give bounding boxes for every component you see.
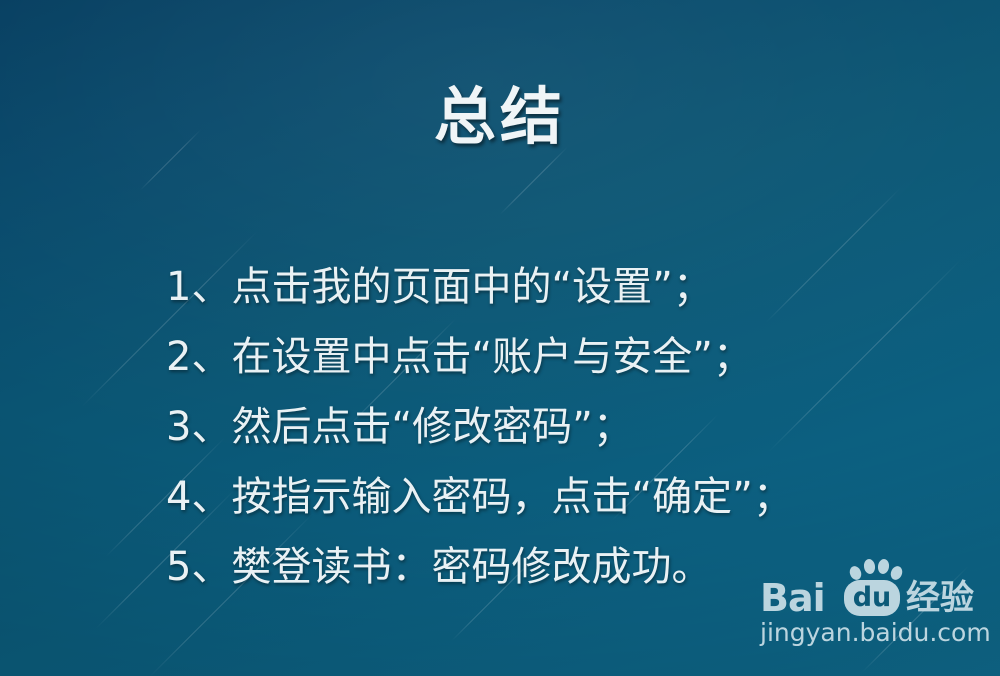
baidu-wordmark-bai: Bai: [760, 578, 825, 618]
watermark-logo-row: Bai du 经验: [758, 556, 996, 622]
baidu-wordmark-du: du: [844, 580, 900, 616]
baidu-jingyan-watermark: Bai du 经验 jingyan.baidu.com: [758, 556, 996, 660]
list-item: 2、在设置中点击“账户与安全”；: [166, 322, 793, 392]
streak-line: [500, 146, 569, 215]
paw-toe-icon: [877, 558, 890, 574]
slide-step-list: 1、点击我的页面中的“设置”； 2、在设置中点击“账户与安全”； 3、然后点击“…: [166, 252, 793, 602]
paw-toe-icon: [889, 564, 904, 581]
list-item: 4、按指示输入密码，点击“确定”；: [166, 462, 793, 532]
jingyan-label-cn: 经验: [906, 578, 974, 618]
list-item: 1、点击我的页面中的“设置”；: [166, 252, 793, 322]
presentation-slide: 总结 1、点击我的页面中的“设置”； 2、在设置中点击“账户与安全”； 3、然后…: [0, 0, 1000, 676]
list-item: 3、然后点击“修改密码”；: [166, 392, 793, 462]
slide-title: 总结: [0, 86, 1000, 148]
watermark-url: jingyan.baidu.com: [760, 618, 991, 648]
paw-toe-icon: [848, 564, 863, 581]
paw-toe-icon: [863, 558, 876, 574]
list-item: 5、樊登读书：密码修改成功。: [166, 532, 793, 602]
streak-line: [768, 258, 962, 452]
